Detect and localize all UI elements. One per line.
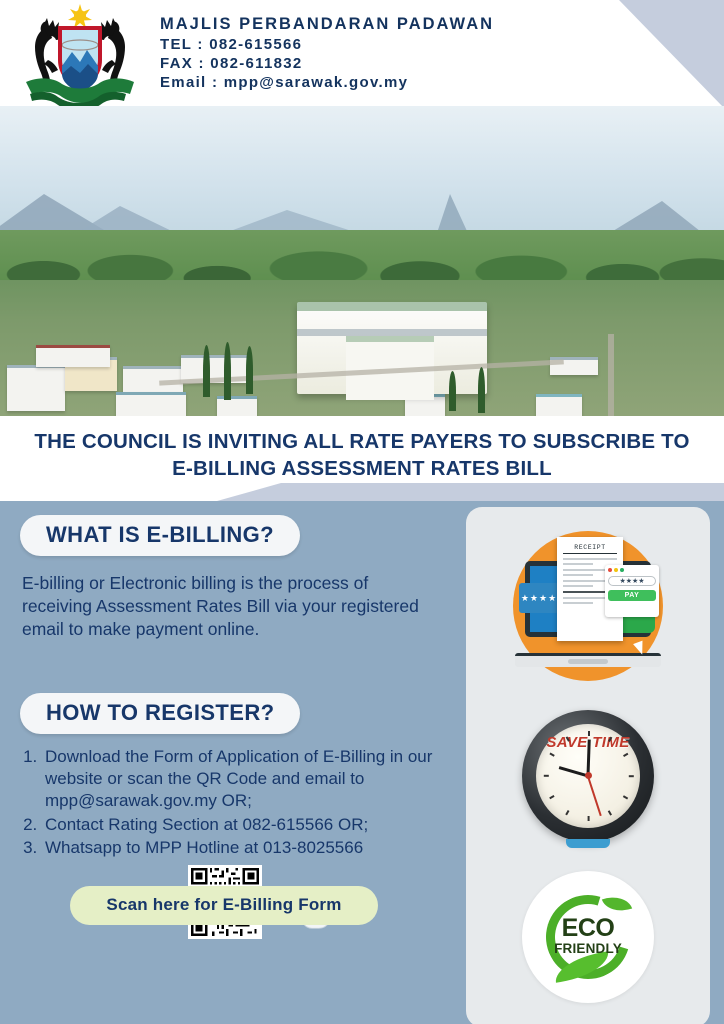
scan-here-button[interactable]: Scan here for E-Billing Form xyxy=(70,886,378,925)
headline-text: THE COUNCIL IS INVITING ALL RATE PAYERS … xyxy=(0,428,724,483)
what-is-ebilling-heading: WHAT IS E-BILLING? xyxy=(20,515,300,556)
palm-tree xyxy=(449,371,456,411)
clock-tick xyxy=(588,816,590,821)
left-column: WHAT IS E-BILLING? E-billing or Electron… xyxy=(0,501,460,939)
eco-line1: ECO xyxy=(562,916,615,941)
clock-tick xyxy=(623,795,628,799)
list-item: Whatsapp to MPP Hotline at 013-8025566 xyxy=(42,837,446,859)
eco-line2: FRIENDLY xyxy=(554,941,622,957)
headline-band: THE COUNCIL IS INVITING ALL RATE PAYERS … xyxy=(0,416,724,501)
receipt-line xyxy=(563,602,593,604)
council-name: MAJLIS PERBANDARAN PADAWAN xyxy=(160,14,494,35)
pay-card-field: ★★★★ xyxy=(608,576,656,586)
clock-hour-hand xyxy=(559,766,589,778)
clock-tick xyxy=(623,753,628,757)
laptop-notch xyxy=(568,659,608,664)
card-masked-digits: ★★★★ xyxy=(521,593,557,604)
palm-tree xyxy=(478,367,485,413)
header-contact-block: MAJLIS PERBANDARAN PADAWAN TEL : 082-615… xyxy=(160,14,494,93)
headline-wedge-fill xyxy=(281,483,724,501)
building xyxy=(217,396,257,416)
register-steps-list: Download the Form of Application of E-Bi… xyxy=(42,746,446,858)
clock-tick xyxy=(544,775,549,777)
receipt-line xyxy=(563,563,593,565)
receipt-line xyxy=(563,558,617,560)
headline-wedge-decoration xyxy=(217,483,281,501)
receipt-line xyxy=(563,585,593,587)
clock-tick xyxy=(549,795,554,799)
palm-tree xyxy=(203,345,210,397)
council-tel: TEL : 082-615566 xyxy=(160,35,494,54)
clock-tick xyxy=(566,810,570,815)
building xyxy=(116,392,186,416)
aerial-photo xyxy=(0,106,724,416)
list-item: Download the Form of Application of E-Bi… xyxy=(42,746,446,812)
what-is-ebilling-body: E-billing or Electronic billing is the p… xyxy=(22,572,442,641)
illustration-panel: ★★★★ RECEIPT xyxy=(466,507,710,1024)
poster: MAJLIS PERBANDARAN PADAWAN TEL : 082-615… xyxy=(0,0,724,1024)
how-to-register-heading: HOW TO REGISTER? xyxy=(20,693,300,734)
eco-badge: ECO FRIENDLY xyxy=(540,889,636,985)
eco-text-block: ECO FRIENDLY xyxy=(540,889,636,985)
pay-window: ★★★★ PAY xyxy=(605,565,659,617)
maximize-dot-icon xyxy=(620,568,624,572)
clock-stand xyxy=(566,839,610,848)
clock-face: SAVE TIME xyxy=(536,724,640,828)
road xyxy=(608,334,614,416)
council-fax: FAX : 082-611832 xyxy=(160,54,494,73)
pay-button: PAY xyxy=(608,590,656,601)
council-logo xyxy=(0,0,160,106)
eco-friendly-illustration: ECO FRIENDLY xyxy=(522,871,654,1003)
coat-of-arms-icon xyxy=(0,0,160,106)
header-corner-decoration xyxy=(619,0,724,106)
list-item: Contact Rating Section at 082-615566 OR; xyxy=(42,814,446,836)
content-area: WHAT IS E-BILLING? E-billing or Electron… xyxy=(0,501,724,1024)
council-email: Email : mpp@sarawak.gov.my xyxy=(160,73,494,92)
save-time-illustration: SAVE TIME xyxy=(522,710,654,842)
building xyxy=(536,394,582,416)
council-building xyxy=(297,302,487,394)
clock-minute-hand xyxy=(587,740,591,776)
minimize-dot-icon xyxy=(614,568,618,572)
clock-tick xyxy=(608,810,612,815)
clock-tick xyxy=(629,775,634,777)
online-payment-illustration: ★★★★ RECEIPT xyxy=(513,531,663,681)
spacer xyxy=(20,641,446,693)
clock-second-hand xyxy=(587,776,601,816)
building xyxy=(7,365,65,411)
receipt-title: RECEIPT xyxy=(563,544,617,554)
close-dot-icon xyxy=(608,568,612,572)
palm-tree xyxy=(246,346,253,394)
window-dots xyxy=(608,568,656,572)
town-area xyxy=(0,280,724,416)
building xyxy=(36,345,110,367)
clock-tick xyxy=(549,753,554,757)
payment-card-shape: ★★★★ xyxy=(519,583,559,613)
header: MAJLIS PERBANDARAN PADAWAN TEL : 082-615… xyxy=(0,0,724,106)
clock-center-pin xyxy=(585,772,592,779)
clock-tick xyxy=(588,731,590,736)
palm-tree xyxy=(224,342,231,400)
receipt-line xyxy=(563,574,593,576)
